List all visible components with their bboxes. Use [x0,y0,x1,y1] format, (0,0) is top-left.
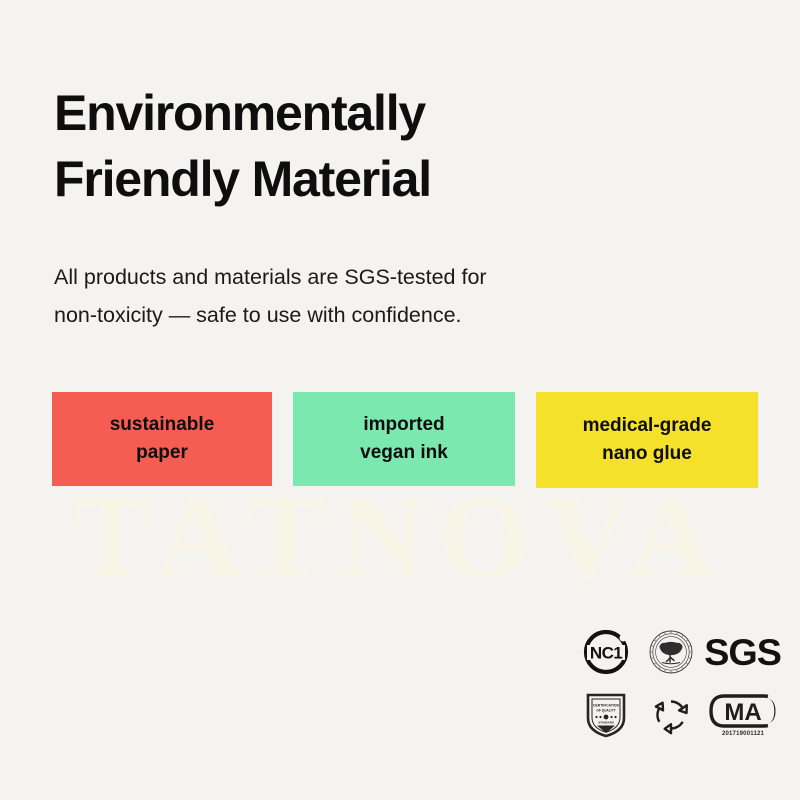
material-badge-line-1: medical-grade [583,412,712,441]
page-description: All products and materials are SGS-teste… [54,258,654,335]
material-badge-line-2: vegan ink [360,439,448,468]
page-title-line-2: Friendly Material [54,146,574,212]
material-badge-list: sustainable paper imported vegan ink med… [52,392,758,488]
material-badge-medical-grade-nano-glue: medical-grade nano glue [536,392,758,488]
material-badge-imported-vegan-ink: imported vegan ink [293,392,515,486]
cma-certificate-number: 201719001121 [722,731,764,737]
material-badge-sustainable-paper: sustainable paper [52,392,272,486]
page-title-line-1: Environmentally [54,80,574,146]
material-badge-line-2: paper [136,439,188,468]
page-description-line-2: non-toxicity — safe to use with confiden… [54,296,654,334]
poster-canvas: TATNOVA Environmentally Friendly Materia… [0,0,800,800]
material-badge-line-2: nano glue [602,440,692,469]
cma-icon: MA 201719001121 [708,694,778,737]
svg-text:OF QUALITY: OF QUALITY [596,709,616,713]
recycling-symbol-icon [648,692,694,738]
certification-logo-grid: NC1 [575,622,785,746]
svg-text:CERTIFICATION: CERTIFICATION [593,704,619,708]
svg-text:STANDARD: STANDARD [598,721,614,725]
svg-text:MA: MA [724,699,761,726]
forest-tree-seal-icon [648,629,694,675]
sgs-icon: SGS [705,634,780,671]
page-description-line-1: All products and materials are SGS-teste… [54,258,654,296]
page-title: Environmentally Friendly Material [54,80,574,212]
material-badge-line-1: imported [363,411,444,440]
material-badge-line-1: sustainable [110,411,215,440]
svg-text:NC1: NC1 [590,644,622,663]
nc1-icon: NC1 [583,629,629,675]
shield-certification-icon: CERTIFICATION OF QUALITY STANDARD [584,691,628,739]
brand-watermark: TATNOVA [0,478,800,596]
sgs-wordmark: SGS [705,634,782,671]
